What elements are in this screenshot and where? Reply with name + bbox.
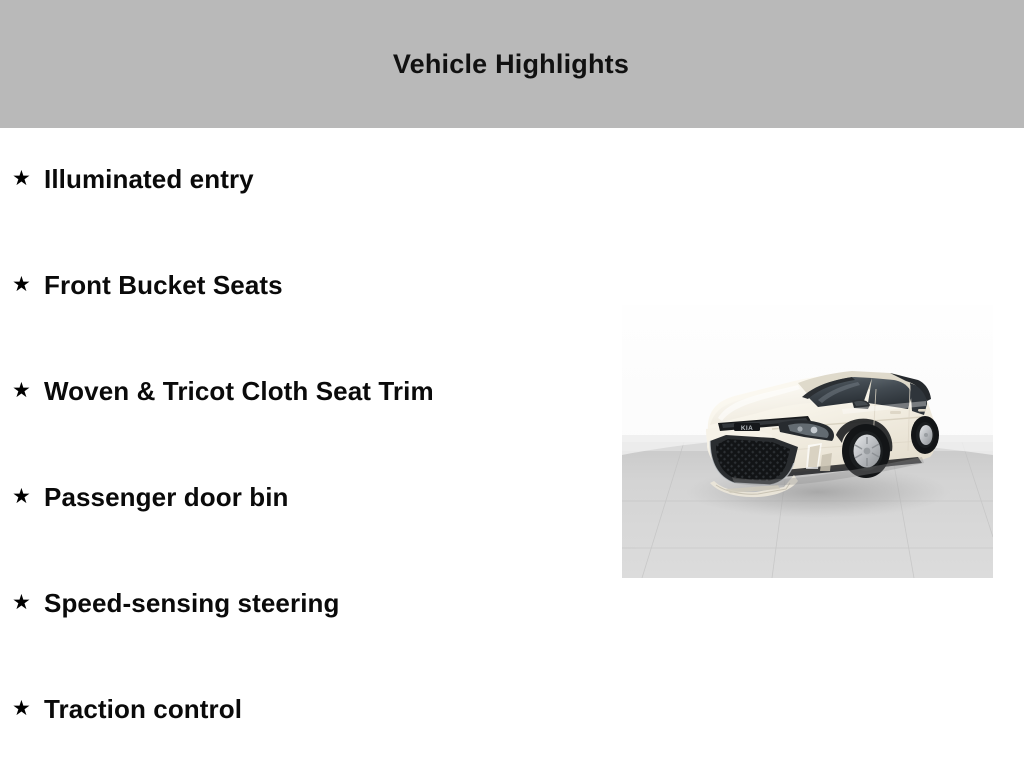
rear-wheel bbox=[911, 416, 939, 454]
header-band: Vehicle Highlights bbox=[0, 0, 1024, 128]
star-bullet-icon: ★ bbox=[12, 592, 32, 613]
star-bullet-icon: ★ bbox=[12, 698, 32, 719]
list-item: ★ Woven & Tricot Cloth Seat Trim bbox=[12, 378, 434, 404]
list-item: ★ Speed-sensing steering bbox=[12, 590, 340, 616]
vehicle-photo: KIA bbox=[622, 305, 993, 578]
highlight-label: Illuminated entry bbox=[44, 166, 254, 192]
highlight-label: Woven & Tricot Cloth Seat Trim bbox=[44, 378, 434, 404]
highlight-label: Traction control bbox=[44, 696, 242, 722]
highlight-label: Speed-sensing steering bbox=[44, 590, 340, 616]
vehicle-photo-illustration: KIA bbox=[622, 305, 993, 578]
highlight-label: Passenger door bin bbox=[44, 484, 289, 510]
list-item: ★ Front Bucket Seats bbox=[12, 272, 283, 298]
star-bullet-icon: ★ bbox=[12, 486, 32, 507]
content-area: ★ Illuminated entry ★ Front Bucket Seats… bbox=[0, 128, 1024, 768]
list-item: ★ Passenger door bin bbox=[12, 484, 289, 510]
page-title: Vehicle Highlights bbox=[393, 51, 629, 78]
kia-badge-text: KIA bbox=[741, 425, 753, 432]
list-item: ★ Illuminated entry bbox=[12, 166, 254, 192]
star-bullet-icon: ★ bbox=[12, 274, 32, 295]
highlight-label: Front Bucket Seats bbox=[44, 272, 283, 298]
star-bullet-icon: ★ bbox=[12, 380, 32, 401]
list-item: ★ Traction control bbox=[12, 696, 242, 722]
star-bullet-icon: ★ bbox=[12, 168, 32, 189]
